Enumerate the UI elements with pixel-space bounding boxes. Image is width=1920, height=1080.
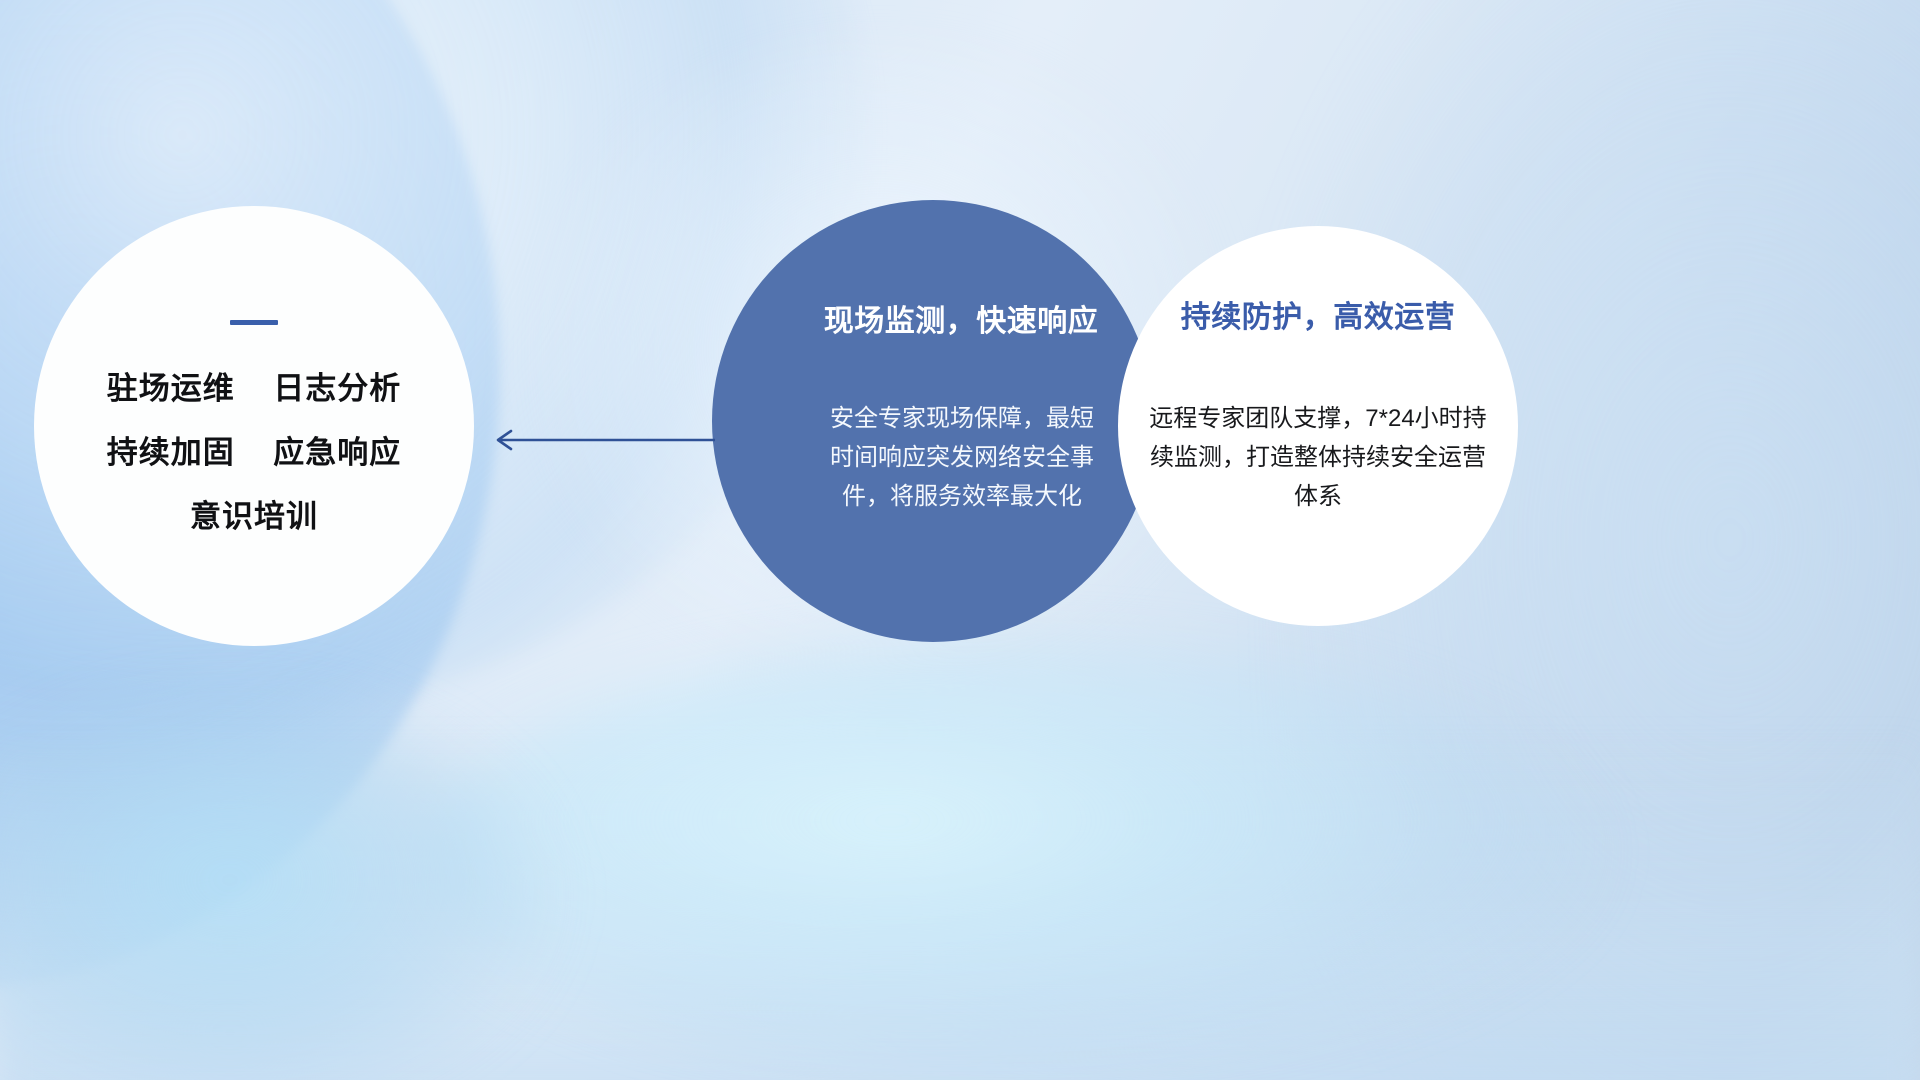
onsite-monitoring-body: 安全专家现场保障，最短时间响应突发网络安全事件，将服务效率最大化 (828, 400, 1096, 517)
keywords-circle-content: 驻场运维 日志分析 持续加固 应急响应 意识培训 (34, 206, 474, 646)
continuous-protection-content: 持续防护，高效运营 远程专家团队支撑，7*24小时持续监测，打造整体持续安全运营… (1118, 226, 1518, 626)
keyword-line-2: 持续加固 应急响应 (107, 437, 401, 468)
slide-canvas: 驻场运维 日志分析 持续加固 应急响应 意识培训 现场监测，快速响应 安全专家现… (0, 0, 1920, 1080)
background-cyan-lowlight (420, 640, 1600, 1070)
arrow-left-icon (487, 424, 715, 456)
continuous-protection-body: 远程专家团队支撑，7*24小时持续监测，打造整体持续安全运营体系 (1140, 400, 1496, 517)
continuous-protection-circle[interactable]: 持续防护，高效运营 远程专家团队支撑，7*24小时持续监测，打造整体持续安全运营… (1118, 226, 1518, 626)
onsite-monitoring-content: 现场监测，快速响应 安全专家现场保障，最短时间响应突发网络安全事件，将服务效率最… (712, 200, 1154, 642)
onsite-monitoring-circle[interactable]: 现场监测，快速响应 安全专家现场保障，最短时间响应突发网络安全事件，将服务效率最… (712, 200, 1154, 642)
keyword-line-3: 意识培训 (190, 501, 318, 532)
keywords-circle[interactable]: 驻场运维 日志分析 持续加固 应急响应 意识培训 (34, 206, 474, 646)
keyword-line-1: 驻场运维 日志分析 (107, 373, 401, 404)
onsite-monitoring-title: 现场监测，快速响应 (824, 296, 1099, 340)
accent-dash-icon (230, 320, 278, 325)
continuous-protection-title: 持续防护，高效运营 (1181, 292, 1456, 336)
